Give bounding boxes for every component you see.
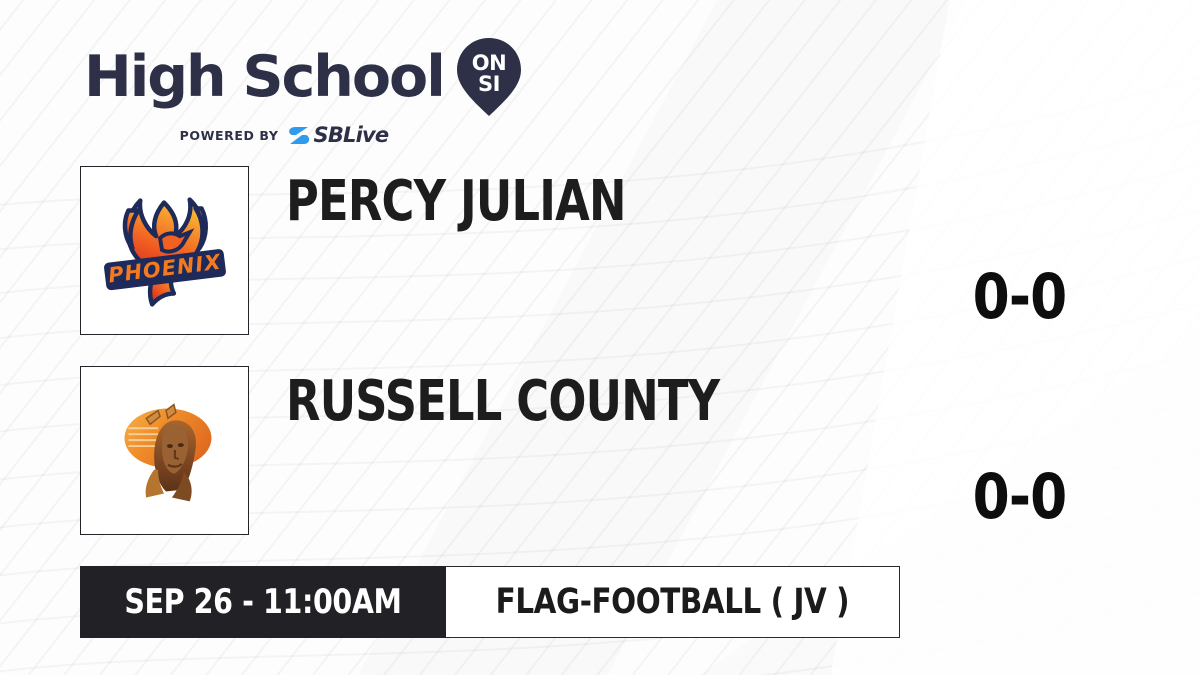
- team-record: 0-0: [920, 466, 1120, 528]
- team-row: PHOENIX PERCY JULIAN 0-0: [80, 166, 1120, 336]
- svg-text:SI: SI: [478, 72, 500, 96]
- powered-by-label: POWERED BY: [180, 128, 279, 143]
- team-record: 0-0: [920, 266, 1120, 328]
- warrior-logo: [80, 366, 249, 535]
- team-name: PERCY JULIAN: [286, 174, 626, 230]
- team-row: RUSSELL COUNTY 0-0: [80, 366, 1120, 536]
- phoenix-logo: PHOENIX: [80, 166, 249, 335]
- brand-header: High School ON SI POWERED BY SBLive: [84, 36, 524, 146]
- brand-row: High School ON SI: [84, 36, 524, 118]
- matchup-graphic: High School ON SI POWERED BY SBLive: [0, 0, 1200, 675]
- powered-by-row: POWERED BY SBLive: [84, 125, 484, 146]
- sblive-logo: SBLive: [287, 125, 389, 146]
- on-si-pin-icon: ON SI: [454, 36, 524, 118]
- sblive-wordmark: SBLive: [314, 125, 389, 146]
- game-datetime-text: SEP 26 - 11:00AM: [124, 582, 401, 622]
- brand-wordmark: High School: [84, 49, 444, 106]
- game-info-bar: SEP 26 - 11:00AM FLAG-FOOTBALL ( JV ): [80, 566, 900, 638]
- game-datetime-block: SEP 26 - 11:00AM: [80, 566, 446, 638]
- sblive-swoosh-icon: [287, 125, 311, 146]
- game-sport-block: FLAG-FOOTBALL ( JV ): [446, 566, 900, 638]
- team-name: RUSSELL COUNTY: [286, 374, 719, 430]
- game-sport-text: FLAG-FOOTBALL ( JV ): [496, 582, 850, 622]
